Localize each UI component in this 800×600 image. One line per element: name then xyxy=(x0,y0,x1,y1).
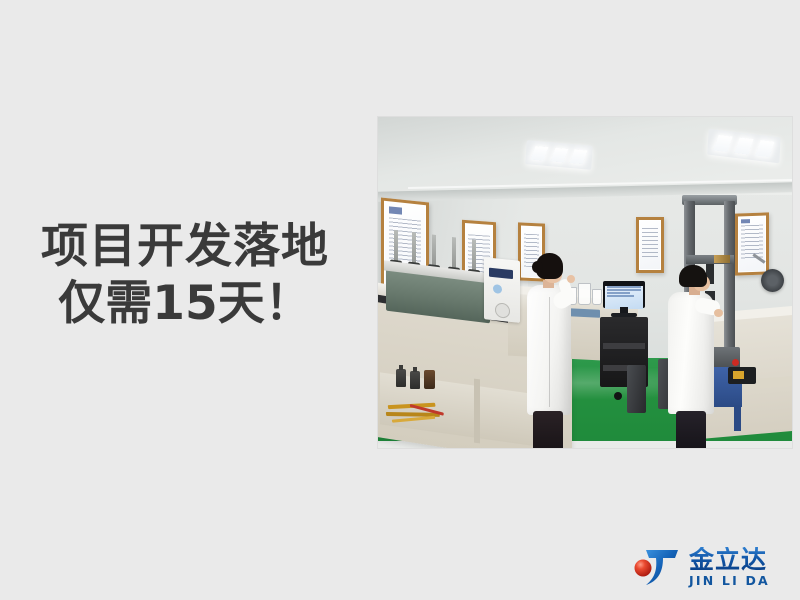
crate-label xyxy=(733,371,744,379)
bench-divider xyxy=(474,379,480,444)
monitor-screen xyxy=(605,286,643,309)
cart-shelf xyxy=(603,343,645,349)
reagent-bottle xyxy=(424,370,435,389)
light-tube xyxy=(569,149,587,164)
instrument-control-panel xyxy=(484,257,520,323)
reagent-bottle xyxy=(396,369,406,387)
light-tube xyxy=(713,135,732,152)
headline-line-2: 仅需15天！ xyxy=(0,275,370,332)
framed-certificate xyxy=(735,212,769,275)
utm-emergency-stop xyxy=(732,359,739,366)
light-tube xyxy=(756,140,775,157)
logo-chinese-name: 金立达 xyxy=(689,547,770,572)
glass-beaker xyxy=(592,289,602,305)
certificate-title-mark xyxy=(389,206,402,214)
utm-stand-leg xyxy=(734,405,741,431)
monitor-base xyxy=(611,313,637,317)
hair-bun xyxy=(532,261,543,273)
photo-scene xyxy=(378,117,792,448)
male-lab-technician xyxy=(667,265,721,448)
glass-flask xyxy=(578,283,591,305)
slide-canvas: 项目开发落地 仅需15天！ xyxy=(0,0,800,600)
logo-mark-icon xyxy=(632,546,682,588)
instrument-dial xyxy=(495,302,510,319)
certificate-text-lines xyxy=(642,228,659,259)
storage-crate xyxy=(728,367,756,384)
certificate-title-mark xyxy=(741,219,749,223)
utm-load-cell xyxy=(714,255,730,263)
reagent-bottle xyxy=(410,371,420,389)
laboratory-photo xyxy=(378,117,792,448)
light-tube xyxy=(531,146,549,161)
hand xyxy=(567,275,575,283)
cart-caster xyxy=(614,392,622,400)
wall-fan xyxy=(761,269,784,292)
desktop-monitor xyxy=(603,281,645,308)
logo-wordmark: 金立达 JIN LI DA xyxy=(689,547,770,588)
company-logo: 金立达 JIN LI DA xyxy=(632,543,792,591)
framed-certificate xyxy=(636,217,664,273)
trousers xyxy=(676,411,706,448)
instrument-display xyxy=(489,268,513,280)
trousers xyxy=(533,411,563,448)
logo-english-name: JIN LI DA xyxy=(689,575,770,588)
utm-column xyxy=(724,201,735,359)
headline-block: 项目开发落地 仅需15天！ xyxy=(0,218,370,333)
instrument-knob xyxy=(493,284,502,294)
lab-coat-seam xyxy=(549,297,550,407)
computer-tower xyxy=(627,365,646,413)
light-tube xyxy=(550,148,568,163)
light-tube xyxy=(734,138,753,155)
hair xyxy=(679,265,707,287)
headline-line-1: 项目开发落地 xyxy=(0,218,370,275)
female-lab-technician xyxy=(523,253,579,448)
hand xyxy=(714,309,723,317)
